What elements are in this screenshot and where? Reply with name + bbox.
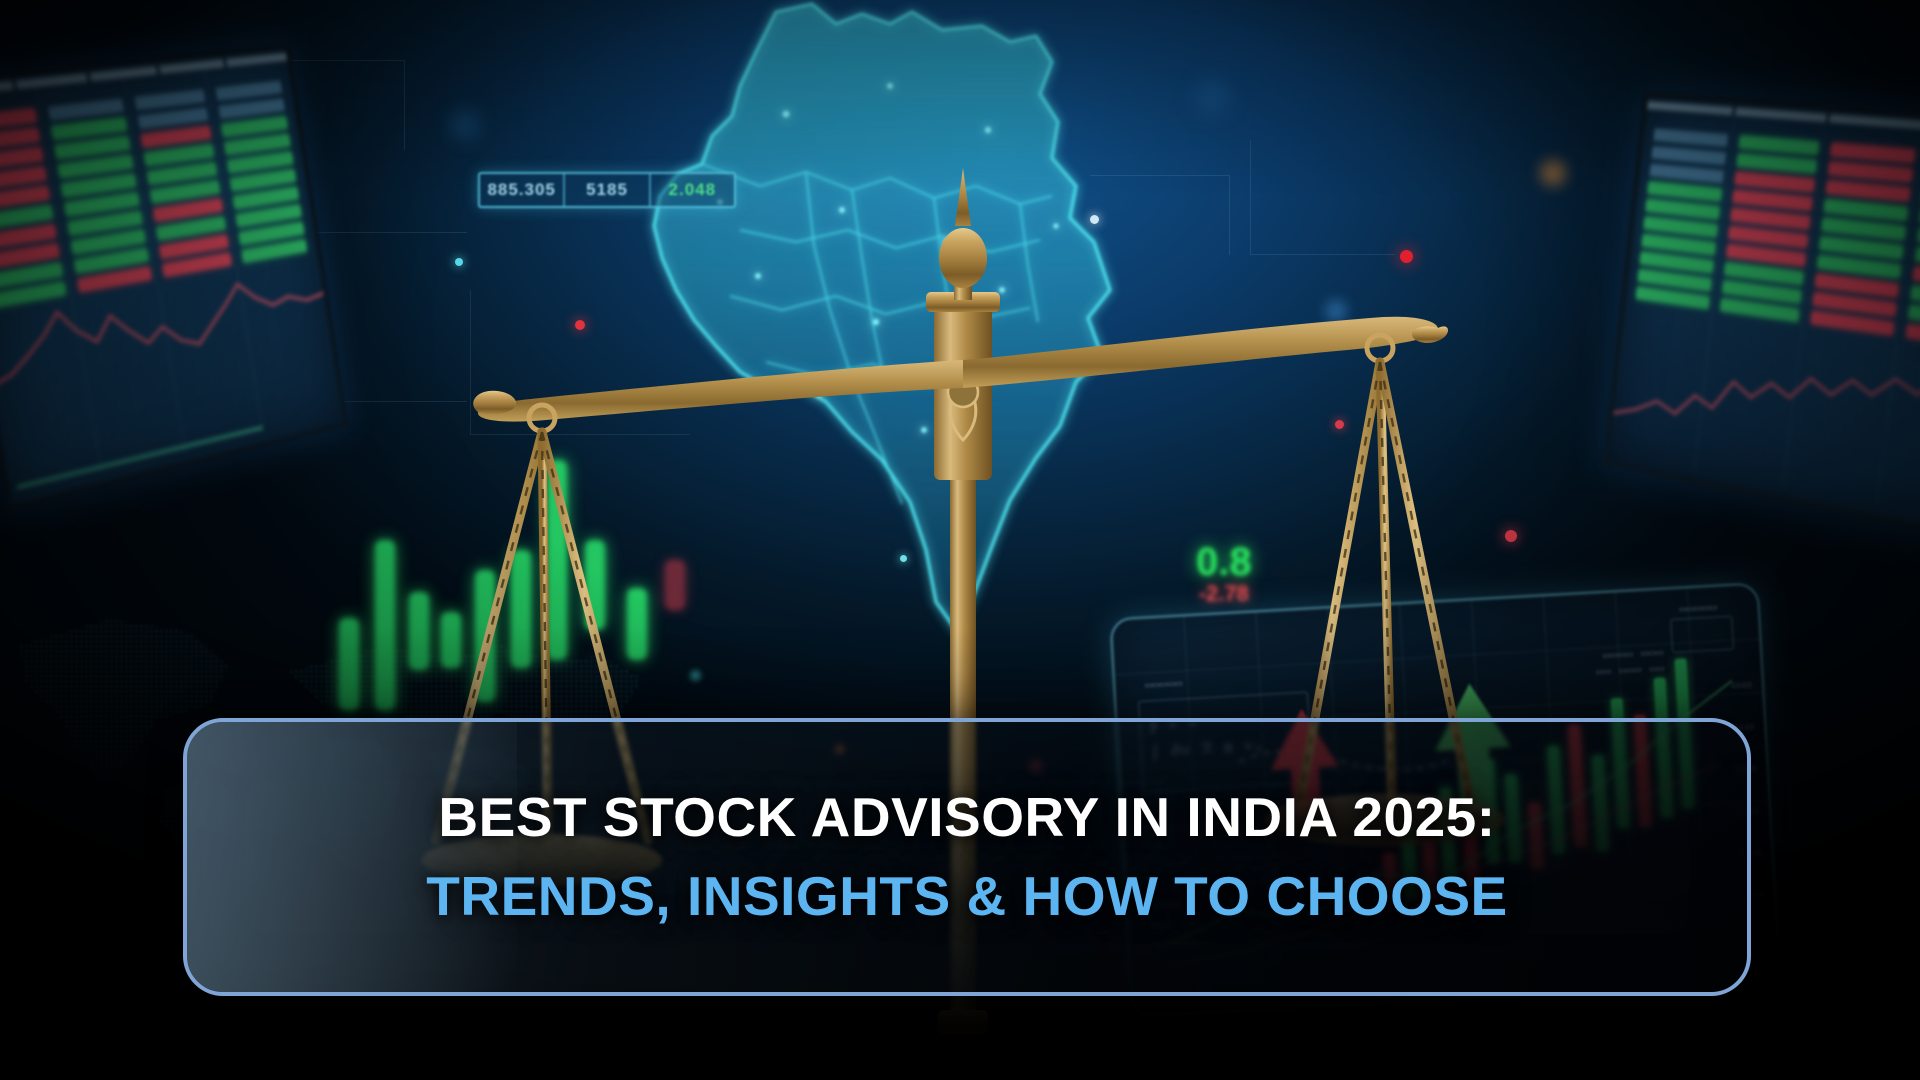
page-title-line-2: TRENDS, INSIGHTS & HOW TO CHOOSE bbox=[426, 869, 1507, 924]
page-title-line-1: BEST STOCK ADVISORY IN INDIA 2025: bbox=[438, 790, 1495, 845]
hero-banner: 885.305 5185 2.048 0.8 -2.78 ▭▭▭▭▭ ∱ ⌁ ⌁… bbox=[0, 0, 1920, 1080]
title-panel: BEST STOCK ADVISORY IN INDIA 2025: TREND… bbox=[183, 718, 1751, 996]
